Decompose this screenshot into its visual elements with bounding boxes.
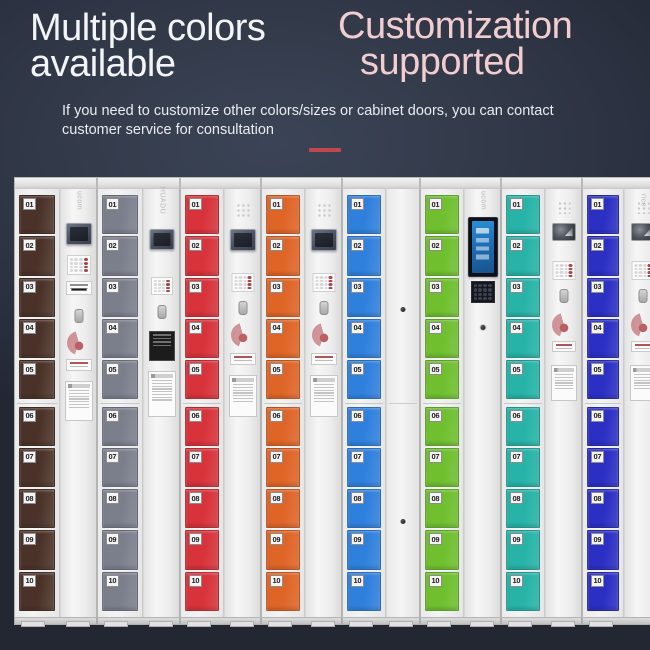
locker-door[interactable]: 10 [185, 572, 219, 611]
cabinet-top-cap [180, 177, 261, 188]
keypad-key[interactable] [643, 268, 647, 271]
camera-module [552, 223, 576, 241]
keypad-key[interactable] [74, 262, 78, 265]
door-number-label: 10 [189, 575, 202, 587]
keypad-key[interactable] [555, 268, 559, 271]
card-reader-icon [238, 301, 247, 315]
locker-door[interactable]: 08 [19, 489, 55, 528]
locker-cabinet-row: 01020304050607080910ucom0102030405060708… [14, 177, 636, 625]
locker-door[interactable]: 02 [185, 236, 219, 275]
keypad-key[interactable] [324, 280, 328, 283]
keypad-key[interactable] [154, 287, 157, 289]
keypad-key[interactable] [166, 280, 169, 282]
label-line [556, 344, 572, 346]
locker-door[interactable]: 02 [347, 236, 381, 275]
door-number-label: 02 [23, 239, 36, 251]
locker-door[interactable]: 08 [425, 489, 459, 528]
locker-door[interactable]: 03 [506, 278, 540, 317]
keypad-key[interactable] [79, 262, 83, 265]
keypad-key[interactable] [324, 283, 328, 286]
keypad-key[interactable] [639, 264, 643, 267]
door-number-label: 03 [106, 281, 119, 293]
keypad-key[interactable] [70, 258, 74, 261]
cabinet-top-cap [582, 177, 650, 188]
locker-door[interactable]: 03 [347, 278, 381, 317]
keypad-key[interactable] [243, 287, 247, 290]
door-stack: 0102030405 [100, 192, 140, 403]
control-panel-column[interactable]: HUADU [144, 189, 179, 617]
cabinet-base-foot [180, 618, 261, 625]
lcd-touchscreen [468, 217, 498, 277]
panel-keypad[interactable] [552, 261, 575, 280]
info-label-mid [66, 359, 92, 371]
cabinet-top-cap [97, 177, 180, 188]
keypad-key[interactable] [84, 269, 88, 272]
keypad-key[interactable] [483, 288, 487, 291]
locker-door[interactable]: 06 [347, 407, 381, 446]
door-number-label: 02 [510, 239, 523, 251]
locker-door[interactable]: 02 [506, 236, 540, 275]
certification-badge [312, 323, 336, 347]
locker-door[interactable]: 01 [185, 195, 219, 234]
locker-door[interactable]: 04 [347, 319, 381, 358]
locker-door[interactable]: 04 [19, 319, 55, 358]
keypad-key[interactable] [555, 275, 559, 278]
keypad-key[interactable] [79, 269, 83, 272]
door-number-label: 08 [351, 492, 364, 504]
door-number-label: 09 [23, 533, 36, 545]
keypad-key[interactable] [315, 283, 319, 286]
locker-door[interactable]: 09 [266, 530, 300, 569]
keypad-key[interactable] [488, 297, 492, 300]
locker-door[interactable]: 10 [347, 572, 381, 611]
keypad-key[interactable] [234, 280, 238, 283]
panel-keypad[interactable] [67, 255, 91, 275]
warning-line [233, 398, 253, 399]
keypad-key[interactable] [248, 280, 252, 283]
door-number-label: 10 [23, 575, 36, 587]
locker-door[interactable]: 05 [102, 360, 138, 399]
door-number-label: 03 [189, 281, 202, 293]
keypad-key[interactable] [315, 276, 319, 279]
locker-door[interactable]: 10 [19, 572, 55, 611]
door-number-label: 06 [510, 410, 523, 422]
cabinet-base-foot [501, 618, 582, 625]
keypad-key[interactable] [162, 290, 165, 292]
keypad-key[interactable] [70, 262, 74, 265]
keypad-key[interactable] [555, 264, 559, 267]
warning-line [314, 398, 334, 399]
warning-line [152, 397, 172, 398]
keypad-key[interactable] [154, 283, 157, 285]
keypad-key[interactable] [329, 280, 333, 283]
keypad-key[interactable] [234, 283, 238, 286]
keypad-key[interactable] [248, 287, 252, 290]
locker-door[interactable]: 06 [506, 407, 540, 446]
locker-door[interactable]: 08 [185, 489, 219, 528]
panel-keypad[interactable] [151, 277, 173, 295]
door-number-label: 01 [106, 198, 119, 210]
keypad-key[interactable] [320, 280, 324, 283]
control-panel-column[interactable]: ucom [61, 189, 96, 617]
locker-door[interactable]: 08 [102, 489, 138, 528]
panel-keypad[interactable] [312, 273, 335, 292]
locker-door[interactable]: 06 [102, 407, 138, 446]
keypad-key[interactable] [154, 290, 157, 292]
locker-door[interactable]: 02 [102, 236, 138, 275]
locker-door[interactable]: 04 [102, 319, 138, 358]
locker-door[interactable]: 08 [506, 489, 540, 528]
locker-door[interactable]: 01 [102, 195, 138, 234]
keypad-key[interactable] [158, 287, 161, 289]
warning-notice-label [229, 375, 257, 417]
door-number-label: 04 [429, 322, 442, 334]
keypad-key[interactable] [154, 280, 157, 282]
warning-line [69, 401, 89, 402]
warning-line [233, 384, 253, 385]
keypad-key[interactable] [569, 271, 573, 274]
keypad-key[interactable] [239, 280, 243, 283]
warning-line [69, 390, 89, 391]
door-number-label: 04 [189, 322, 202, 334]
locker-door[interactable]: 07 [347, 448, 381, 487]
keypad-key[interactable] [483, 297, 487, 300]
keypad-key[interactable] [234, 276, 238, 279]
label-line [70, 284, 88, 286]
locker-door[interactable]: 01 [587, 195, 619, 234]
locker-door[interactable]: 07 [266, 448, 300, 487]
door-number-label: 07 [429, 451, 442, 463]
door-stack: 0102030405 [585, 192, 621, 403]
locker-door[interactable]: 05 [587, 360, 619, 399]
keypad-key[interactable] [564, 268, 568, 271]
control-panel-column[interactable] [306, 189, 341, 617]
locker-door[interactable]: 03 [102, 278, 138, 317]
warning-line [69, 396, 89, 397]
page-title-left: Multiple colors available [30, 10, 310, 83]
keypad-key[interactable] [239, 287, 243, 290]
warning-line [152, 388, 172, 389]
label-line [70, 366, 88, 368]
locker-door[interactable]: 07 [185, 448, 219, 487]
locker-door[interactable]: 01 [266, 195, 300, 234]
keypad-key[interactable] [234, 287, 238, 290]
locker-door[interactable]: 01 [19, 195, 55, 234]
keypad-key[interactable] [643, 271, 647, 274]
warning-line [634, 380, 650, 381]
keypad-key[interactable] [79, 266, 83, 269]
keypad-key[interactable] [315, 280, 319, 283]
warning-line [233, 392, 253, 393]
keypad-key[interactable] [162, 287, 165, 289]
keypad-key[interactable] [329, 276, 333, 279]
warning-line [233, 401, 253, 402]
keypad-key[interactable] [239, 283, 243, 286]
cabinet-base-foot [582, 618, 650, 625]
panel-keypad[interactable] [231, 273, 254, 292]
locker-door[interactable]: 10 [266, 572, 300, 611]
locker-door[interactable]: 03 [185, 278, 219, 317]
door-stack: 0607080910 [183, 403, 221, 615]
warning-line [152, 383, 172, 384]
locker-door-column: 01020304050607080910 [421, 189, 463, 617]
keypad-key[interactable] [239, 276, 243, 279]
keypad-key[interactable] [84, 258, 88, 261]
keypad-key[interactable] [166, 287, 169, 289]
locker-door[interactable]: 06 [425, 407, 459, 446]
keypad-key[interactable] [634, 264, 638, 267]
door-number-label: 08 [429, 492, 442, 504]
keypad-key[interactable] [158, 283, 161, 285]
locker-door[interactable]: 04 [425, 319, 459, 358]
warning-line [233, 395, 253, 396]
keypad-key[interactable] [634, 271, 638, 274]
door-number-label: 06 [106, 410, 119, 422]
keypad-key[interactable] [488, 288, 492, 291]
locker-door[interactable]: 04 [185, 319, 219, 358]
keypad-key[interactable] [84, 266, 88, 269]
keypad-key[interactable] [74, 258, 78, 261]
locker-door[interactable]: 09 [506, 530, 540, 569]
keypad-key[interactable] [248, 283, 252, 286]
door-stack: 0607080910 [585, 403, 621, 615]
door-number-label: 04 [23, 322, 36, 334]
header-banner: Multiple colors available Customization … [0, 0, 650, 170]
locker-door[interactable]: 05 [425, 360, 459, 399]
locker-door[interactable]: 07 [19, 448, 55, 487]
door-number-label: 08 [510, 492, 523, 504]
locker-door[interactable]: 02 [266, 236, 300, 275]
keypad-key[interactable] [488, 293, 492, 296]
speaker-grille [236, 203, 250, 217]
door-number-label: 02 [591, 239, 604, 251]
locker-door[interactable]: 01 [506, 195, 540, 234]
door-stack: 0607080910 [264, 403, 302, 615]
label-line [153, 341, 171, 343]
locker-door[interactable]: 03 [266, 278, 300, 317]
warning-line [69, 404, 89, 405]
keypad-key[interactable] [483, 293, 487, 296]
card-reader-icon [638, 289, 647, 303]
keypad-key[interactable] [488, 284, 492, 287]
cabinet-body: 01020304050607080910 [342, 188, 420, 618]
locker-door[interactable]: 02 [19, 236, 55, 275]
keypad-key[interactable] [560, 268, 564, 271]
locker-door[interactable]: 01 [347, 195, 381, 234]
panel-keypad[interactable] [471, 281, 495, 303]
keypad-key[interactable] [639, 268, 643, 271]
locker-door[interactable]: 05 [506, 360, 540, 399]
keypad-key[interactable] [474, 293, 478, 296]
keypad-key[interactable] [162, 283, 165, 285]
locker-cabinet-brown-cabinet: 01020304050607080910ucom [14, 177, 97, 625]
control-panel-column[interactable] [546, 189, 581, 617]
keypad-key[interactable] [329, 287, 333, 290]
keypad-key[interactable] [643, 275, 647, 278]
door-number-label: 04 [351, 322, 364, 334]
locker-door[interactable]: 06 [19, 407, 55, 446]
warning-line [314, 390, 334, 391]
keypad-key[interactable] [555, 271, 559, 274]
locker-door[interactable]: 08 [266, 489, 300, 528]
screen-glass [153, 233, 170, 246]
locker-door[interactable]: 06 [587, 407, 619, 446]
keypad-key[interactable] [324, 287, 328, 290]
door-number-label: 02 [189, 239, 202, 251]
camera-module [631, 223, 650, 241]
keypad-key[interactable] [248, 276, 252, 279]
door-number-label: 09 [189, 533, 202, 545]
keypad-key[interactable] [315, 287, 319, 290]
keypad-key[interactable] [243, 276, 247, 279]
blank-cabinet-face[interactable] [387, 189, 419, 617]
locker-door[interactable]: 10 [425, 572, 459, 611]
keypad-key[interactable] [329, 283, 333, 286]
keypad-key[interactable] [560, 271, 564, 274]
locker-door[interactable]: 07 [425, 448, 459, 487]
locker-door[interactable]: 09 [347, 530, 381, 569]
keypad-key[interactable] [564, 271, 568, 274]
keypad-key[interactable] [320, 283, 324, 286]
door-number-label: 06 [429, 410, 442, 422]
warning-line [69, 407, 89, 408]
lock-button [401, 307, 406, 312]
label-line [315, 356, 333, 358]
keypad-key[interactable] [478, 293, 482, 296]
keypad-key[interactable] [643, 264, 647, 267]
locker-door[interactable]: 03 [425, 278, 459, 317]
keypad-key[interactable] [70, 266, 74, 269]
door-stack: 0102030405 [264, 192, 302, 403]
keypad-key[interactable] [243, 283, 247, 286]
cabinet-top-cap [420, 177, 501, 188]
brand-text: ucom [479, 191, 486, 210]
locker-cabinet-blue-dark-cabinet: 01020304050607080910rice1112131415161718… [582, 177, 650, 625]
locker-door[interactable]: 10 [587, 572, 619, 611]
locker-door[interactable]: 07 [506, 448, 540, 487]
locker-door[interactable]: 06 [185, 407, 219, 446]
locker-door[interactable]: 05 [347, 360, 381, 399]
locker-door[interactable]: 09 [425, 530, 459, 569]
locker-door[interactable]: 04 [506, 319, 540, 358]
door-stack: 0102030405 [183, 192, 221, 403]
door-number-label: 04 [106, 322, 119, 334]
control-panel-column[interactable]: rice [625, 189, 650, 617]
keypad-key[interactable] [560, 275, 564, 278]
control-panel-column[interactable] [225, 189, 260, 617]
locker-door[interactable]: 08 [347, 489, 381, 528]
keypad-key[interactable] [474, 284, 478, 287]
card-slot [71, 288, 87, 291]
door-number-label: 07 [591, 451, 604, 463]
keypad-key[interactable] [166, 283, 169, 285]
locker-door[interactable]: 02 [587, 236, 619, 275]
locker-door[interactable]: 07 [587, 448, 619, 487]
locker-door[interactable]: 04 [587, 319, 619, 358]
keypad-key[interactable] [162, 280, 165, 282]
keypad-key[interactable] [478, 297, 482, 300]
panel-display-screen [149, 229, 174, 250]
screen-glass [70, 227, 88, 241]
keypad-key[interactable] [639, 275, 643, 278]
keypad-key[interactable] [70, 269, 74, 272]
locker-door[interactable]: 09 [102, 530, 138, 569]
keypad-key[interactable] [634, 268, 638, 271]
keypad-key[interactable] [639, 271, 643, 274]
keypad-key[interactable] [564, 275, 568, 278]
keypad-key[interactable] [483, 284, 487, 287]
keypad-key[interactable] [474, 288, 478, 291]
cabinet-body: 01020304050607080910 [180, 188, 261, 618]
locker-door[interactable]: 04 [266, 319, 300, 358]
keypad-key[interactable] [79, 258, 83, 261]
door-number-label: 03 [429, 281, 442, 293]
cabinet-top-cap [261, 177, 342, 188]
door-number-label: 07 [270, 451, 283, 463]
locker-door[interactable]: 03 [19, 278, 55, 317]
locker-door[interactable]: 10 [506, 572, 540, 611]
warning-notice-label [551, 365, 577, 401]
door-number-label: 08 [106, 492, 119, 504]
keypad-key[interactable] [74, 266, 78, 269]
warning-line [555, 377, 573, 378]
locker-door[interactable]: 08 [587, 489, 619, 528]
keypad-key[interactable] [634, 275, 638, 278]
locker-door[interactable]: 03 [587, 278, 619, 317]
control-panel-column[interactable]: ucom [465, 189, 500, 617]
door-number-label: 03 [23, 281, 36, 293]
title-left-line2: available [30, 43, 176, 85]
keypad-key[interactable] [474, 297, 478, 300]
keypad-key[interactable] [243, 280, 247, 283]
locker-door[interactable]: 09 [185, 530, 219, 569]
locker-door[interactable]: 09 [587, 530, 619, 569]
locker-door[interactable]: 06 [266, 407, 300, 446]
accent-divider [309, 148, 341, 152]
certification-badge [67, 331, 91, 355]
keypad-key[interactable] [158, 280, 161, 282]
info-label-dark [149, 331, 175, 361]
screen-glass [315, 233, 333, 247]
keypad-key[interactable] [560, 264, 564, 267]
locker-door[interactable]: 05 [266, 360, 300, 399]
locker-door[interactable]: 09 [19, 530, 55, 569]
keypad-key[interactable] [478, 284, 482, 287]
keypad-key[interactable] [320, 276, 324, 279]
keypad-key[interactable] [569, 264, 573, 267]
locker-door[interactable]: 05 [19, 360, 55, 399]
locker-door[interactable]: 01 [425, 195, 459, 234]
panel-divider-line [389, 403, 417, 404]
keypad-key[interactable] [569, 268, 573, 271]
locker-cabinet-blue-light-cabinet: 01020304050607080910 [342, 177, 420, 625]
keypad-key[interactable] [74, 269, 78, 272]
panel-keypad[interactable] [631, 261, 650, 280]
keypad-key[interactable] [324, 276, 328, 279]
keypad-key[interactable] [478, 288, 482, 291]
locker-door[interactable]: 10 [102, 572, 138, 611]
warning-line [233, 390, 253, 391]
keypad-key[interactable] [564, 264, 568, 267]
locker-door[interactable]: 07 [102, 448, 138, 487]
keypad-key[interactable] [158, 290, 161, 292]
locker-door[interactable]: 02 [425, 236, 459, 275]
keypad-key[interactable] [84, 262, 88, 265]
locker-door[interactable]: 05 [185, 360, 219, 399]
keypad-key[interactable] [320, 287, 324, 290]
keypad-key[interactable] [166, 290, 169, 292]
keypad-key[interactable] [569, 275, 573, 278]
